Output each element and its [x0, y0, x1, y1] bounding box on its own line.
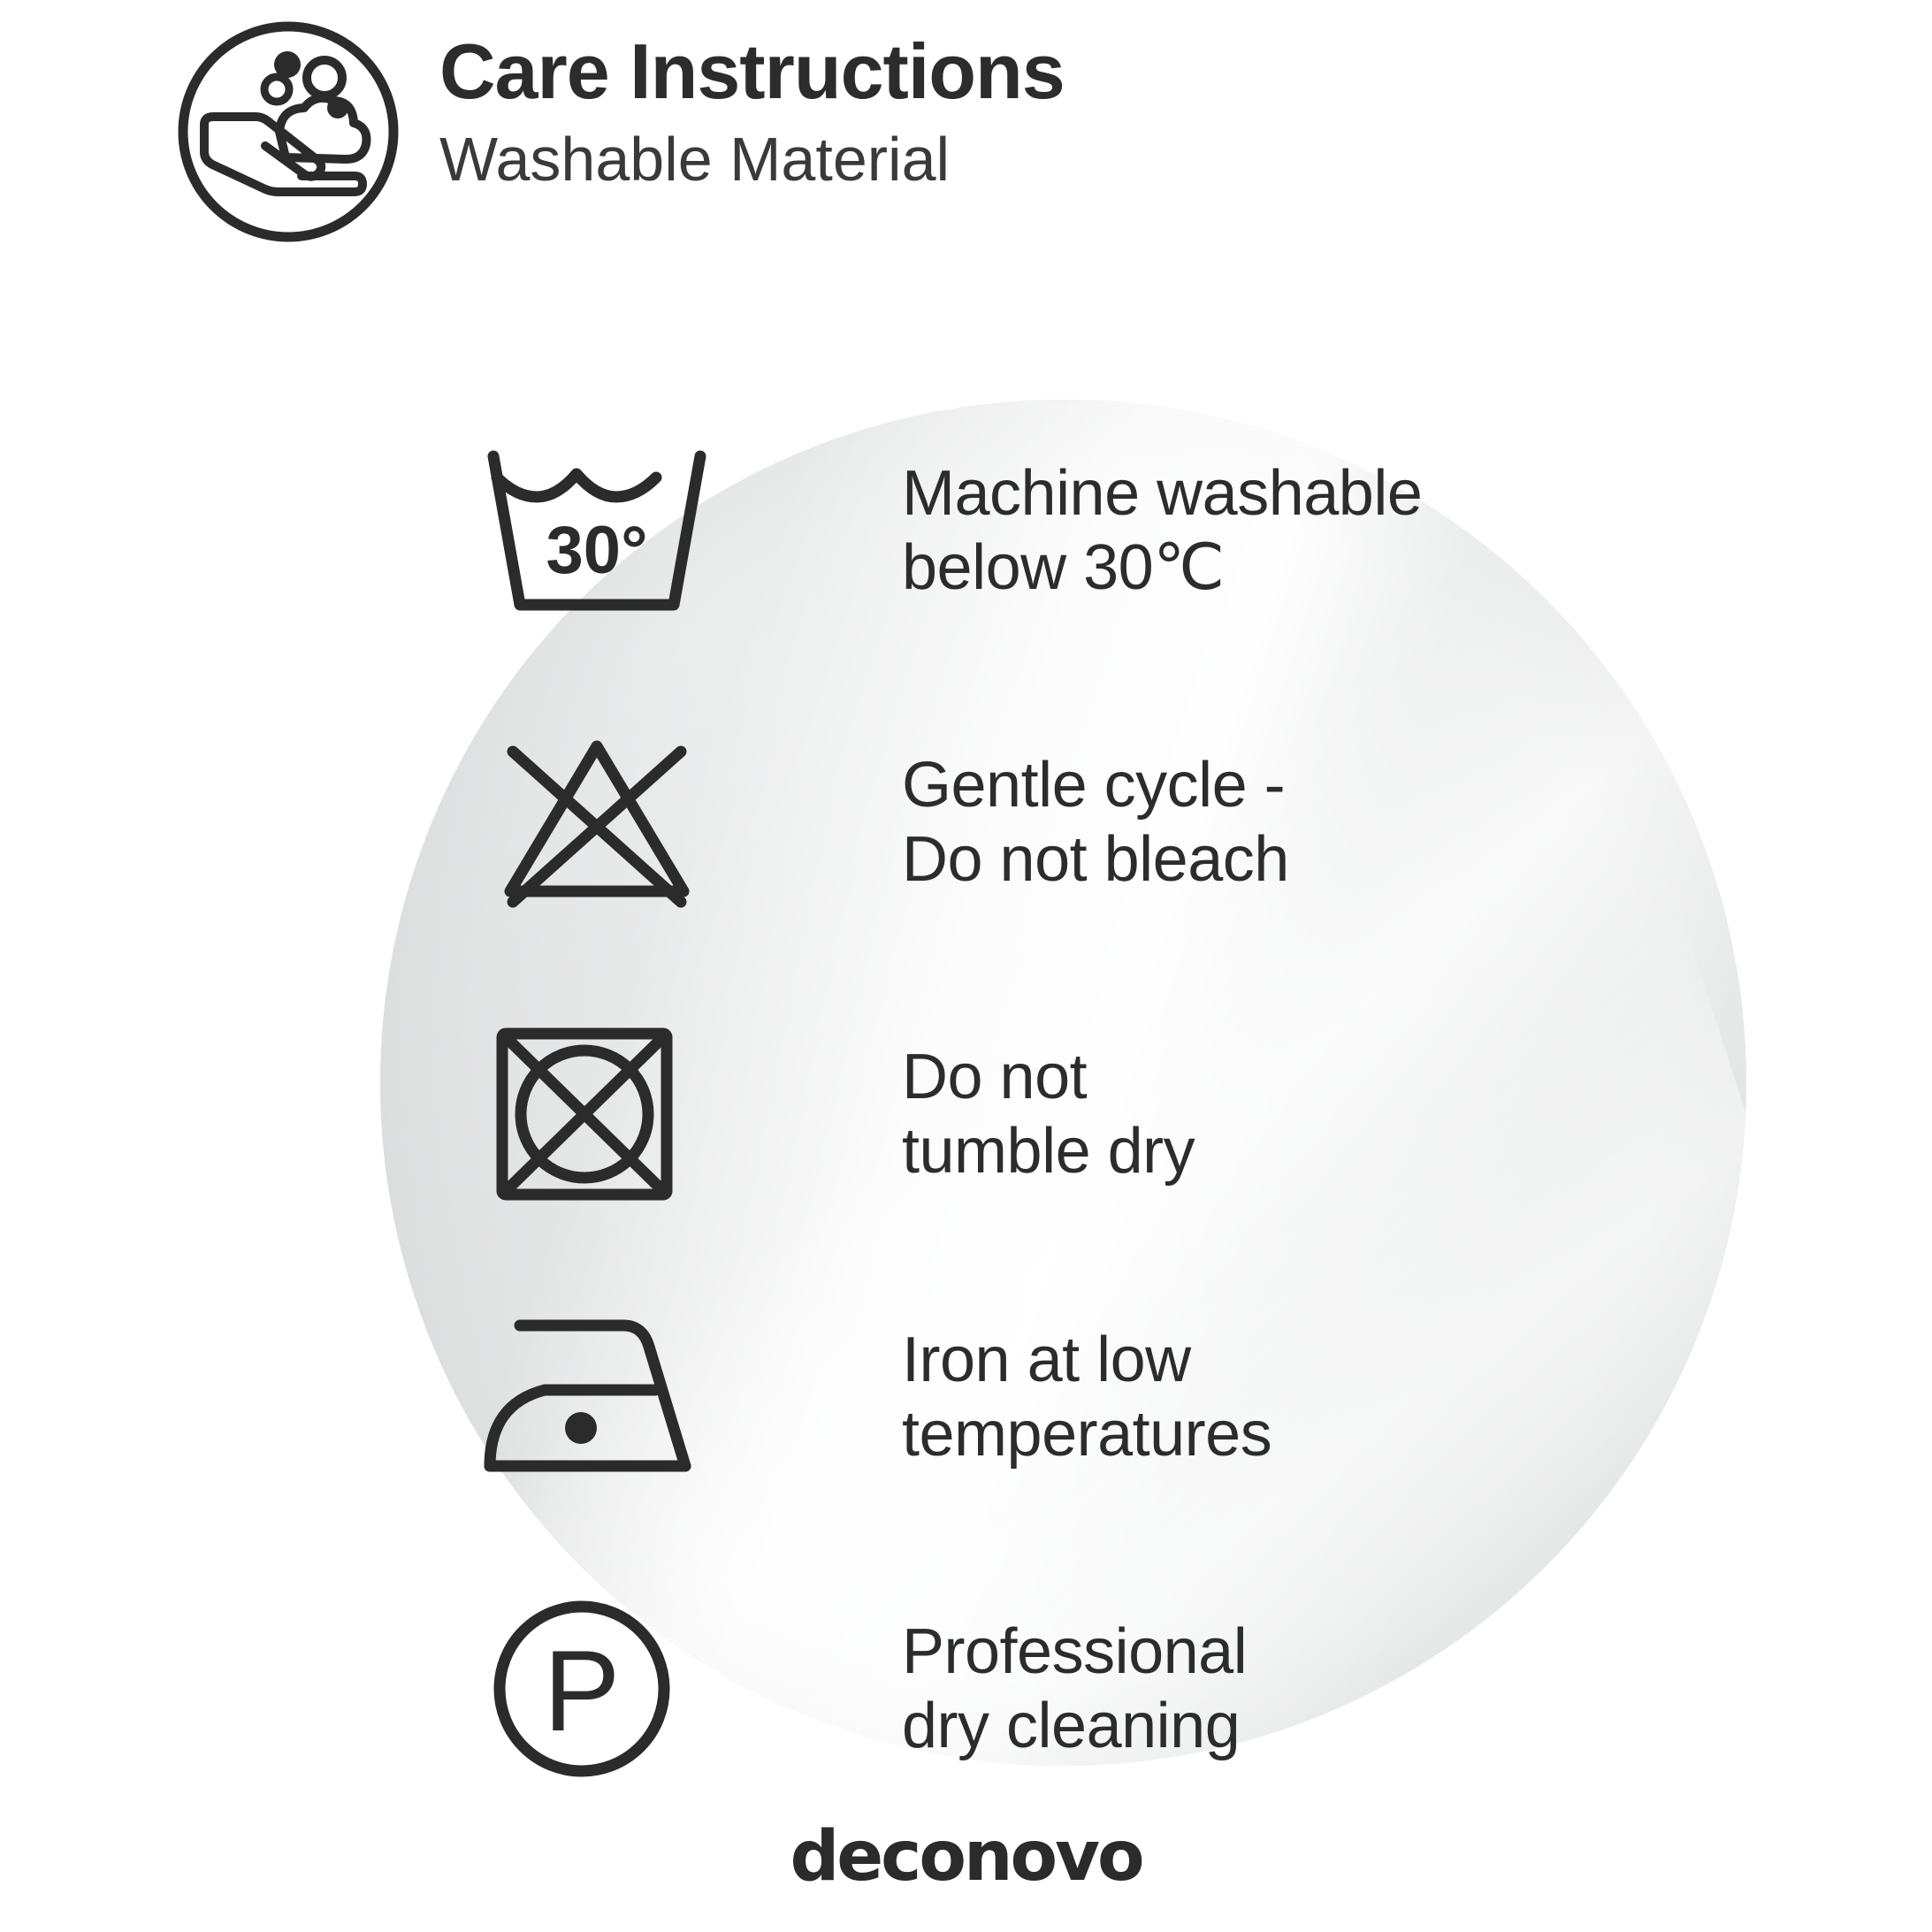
care-row-machine-wash: 30° Machine washable below 30℃ — [477, 442, 1627, 619]
care-row-iron-low: Iron at low temperatures — [477, 1309, 1627, 1485]
care-row-dry-clean: P Professional dry cleaning — [477, 1596, 1627, 1782]
footer: deconovo — [0, 1817, 1932, 1897]
wash-temperature-value: 30° — [546, 513, 648, 588]
care-row-label: Iron at low temperatures — [902, 1323, 1271, 1471]
care-row-label: Professional dry cleaning — [902, 1615, 1247, 1763]
do-not-tumble-dry-icon — [477, 1021, 725, 1207]
do-not-bleach-triangle-icon — [477, 734, 725, 911]
care-row-do-not-bleach: Gentle cycle - Do not bleach — [477, 734, 1627, 911]
wash-tub-30-icon: 30° — [477, 442, 725, 619]
care-row-label: Do not tumble dry — [902, 1040, 1195, 1188]
brand-logo: deconovo — [790, 1817, 1142, 1897]
care-instruction-list: 30° Machine washable below 30℃ Gentle cy… — [0, 0, 1932, 1932]
iron-low-temperature-icon — [477, 1309, 725, 1485]
professional-dry-clean-p-icon: P — [477, 1596, 725, 1782]
care-row-label: Gentle cycle - Do not bleach — [902, 748, 1289, 897]
care-row-do-not-tumble-dry: Do not tumble dry — [477, 1021, 1627, 1207]
dry-clean-code-letter: P — [544, 1626, 621, 1755]
care-row-label: Machine washable below 30℃ — [902, 456, 1422, 605]
